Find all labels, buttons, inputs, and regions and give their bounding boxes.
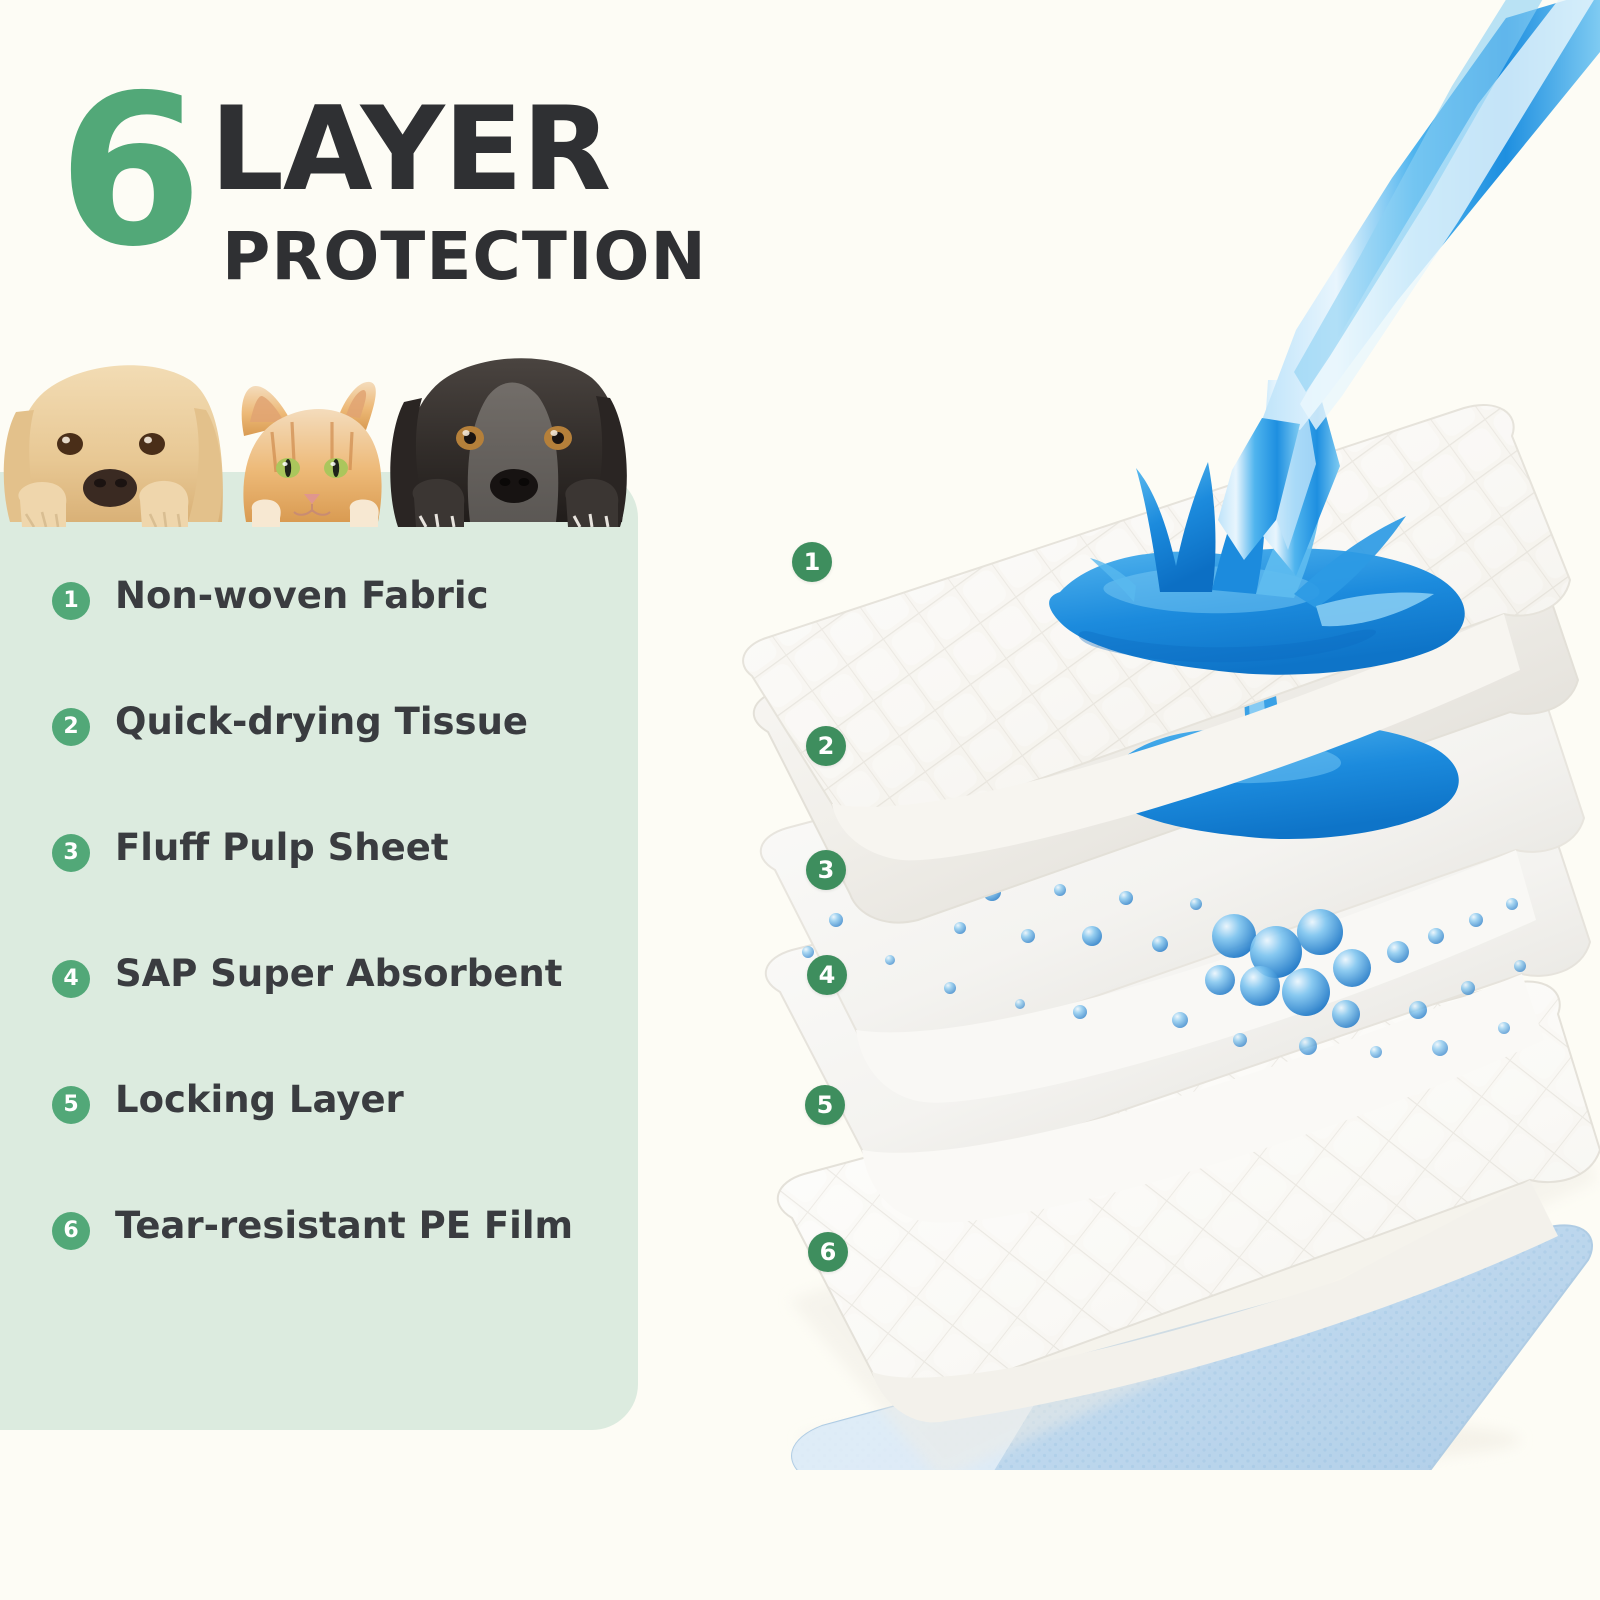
feature-item-1: 1 Non-woven Fabric [52, 558, 612, 684]
feature-item-5: 5 Locking Layer [52, 1062, 612, 1188]
layer-badge-4: 4 [807, 955, 847, 995]
feature-badge-4: 4 [52, 960, 90, 998]
feature-badge-2: 2 [52, 708, 90, 746]
feature-item-2: 2 Quick-drying Tissue [52, 684, 612, 810]
feature-list: 1 Non-woven Fabric 2 Quick-drying Tissue… [52, 558, 612, 1314]
feature-label-2: Quick-drying Tissue [115, 700, 528, 743]
infographic-canvas: 1 2 3 4 5 6 1 Non-woven Fabric 2 Quick-d… [0, 0, 1600, 1600]
pet-photos [0, 352, 640, 522]
layer-badge-3: 3 [806, 850, 846, 890]
black-dog [390, 358, 627, 527]
layer-badge-5: 5 [805, 1085, 845, 1125]
feature-badge-3: 3 [52, 834, 90, 872]
page-title: LAYER [210, 92, 610, 208]
golden-retriever-dog [4, 365, 223, 527]
layer-badge-6: 6 [808, 1232, 848, 1272]
feature-badge-6: 6 [52, 1212, 90, 1250]
title-block: 6 LAYER PROTECTION [40, 72, 700, 282]
layer-count-number: 6 [58, 68, 197, 276]
feature-label-3: Fluff Pulp Sheet [115, 826, 449, 869]
feature-badge-5: 5 [52, 1086, 90, 1124]
feature-item-6: 6 Tear-resistant PE Film [52, 1188, 612, 1314]
feature-label-4: SAP Super Absorbent [115, 952, 562, 995]
feature-panel: 1 Non-woven Fabric 2 Quick-drying Tissue… [0, 472, 638, 1430]
feature-item-4: 4 SAP Super Absorbent [52, 936, 612, 1062]
orange-tabby-cat [242, 382, 382, 527]
layer-badge-2: 2 [806, 726, 846, 766]
feature-label-5: Locking Layer [115, 1078, 404, 1121]
feature-badge-1: 1 [52, 582, 90, 620]
feature-label-1: Non-woven Fabric [115, 574, 489, 617]
layer-stack: 1 2 3 4 5 6 [640, 380, 1600, 1470]
page-subtitle: PROTECTION [222, 224, 707, 290]
layer-badge-1: 1 [792, 542, 832, 582]
layer-stack-graphic [640, 380, 1600, 1470]
feature-item-3: 3 Fluff Pulp Sheet [52, 810, 612, 936]
feature-label-6: Tear-resistant PE Film [115, 1204, 573, 1247]
